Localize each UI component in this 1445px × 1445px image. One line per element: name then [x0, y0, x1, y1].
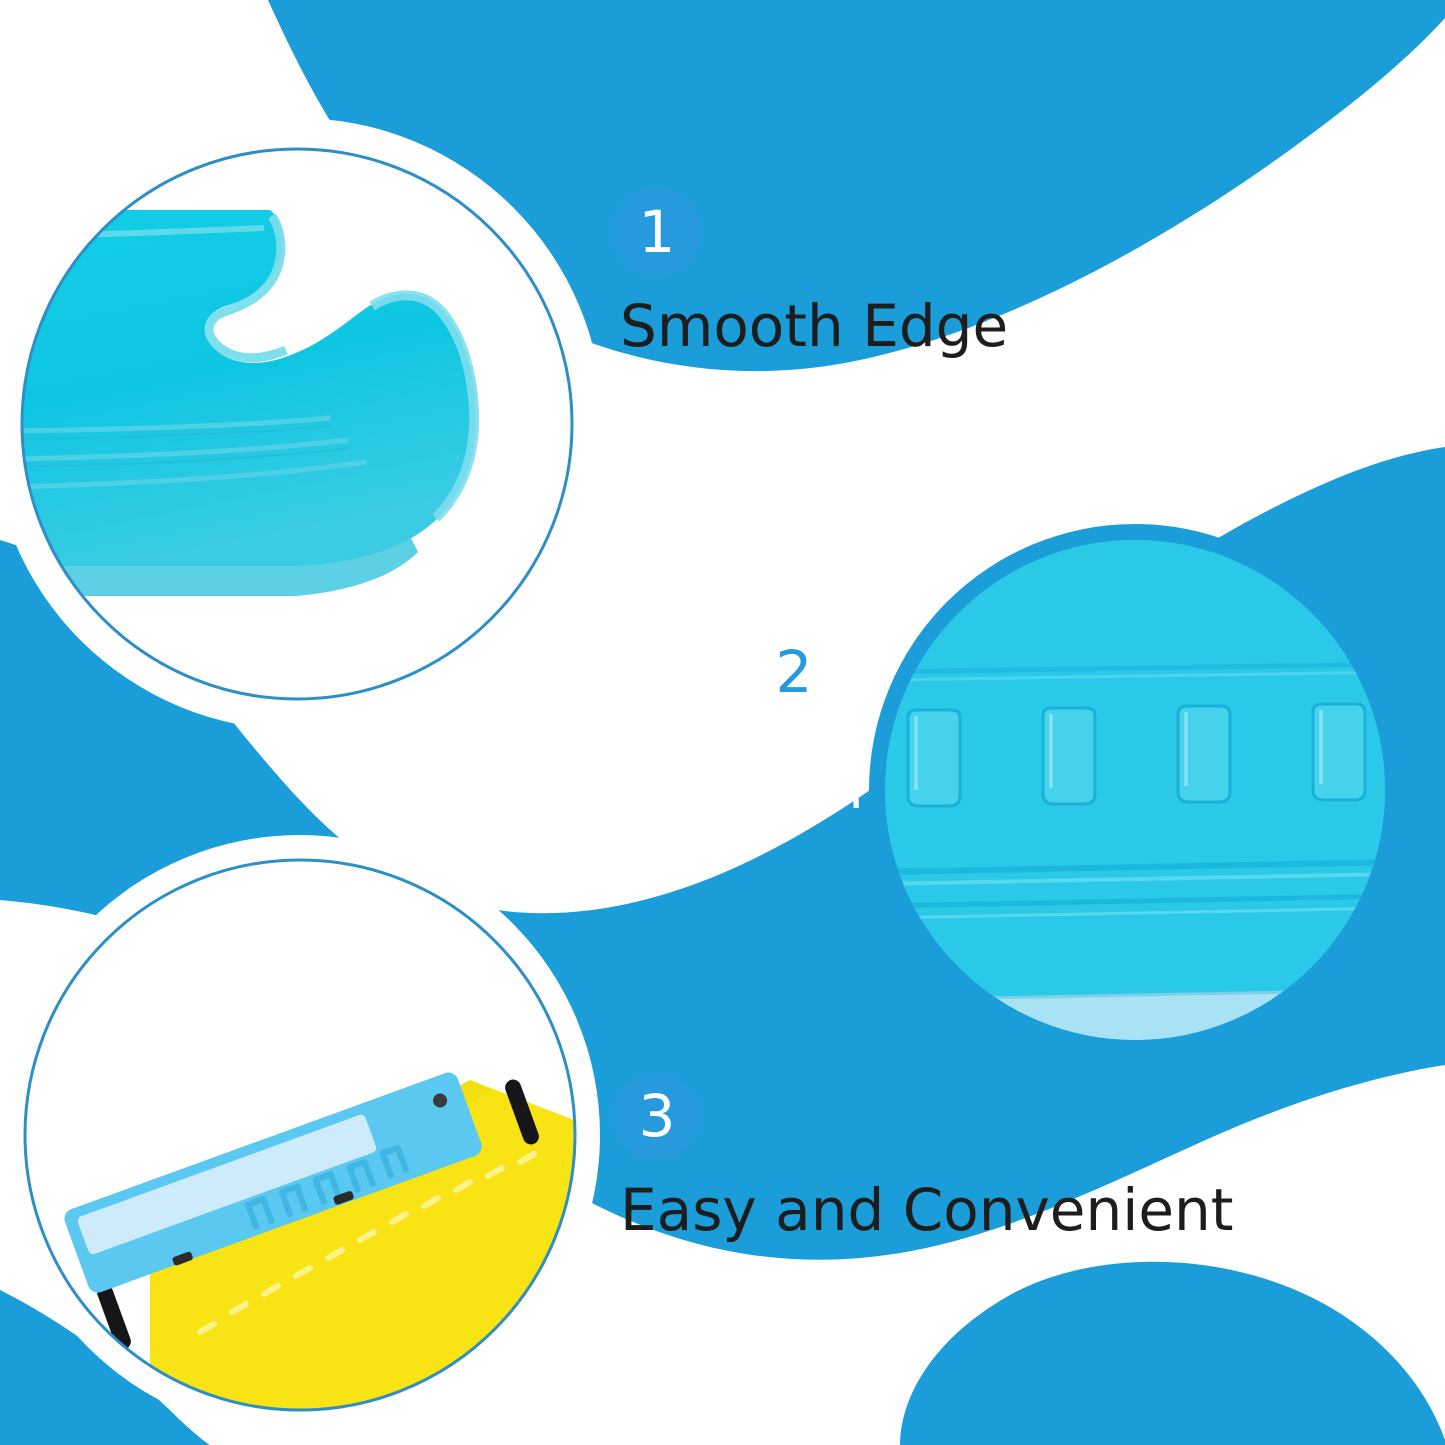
step-badge-2: 2: [750, 628, 838, 716]
step-caption-3: Easy and Convenient: [620, 1180, 1234, 1241]
step-number-3: 3: [639, 1087, 676, 1145]
infographic-canvas: 1 Smooth Edge 2 Special Pit Design 3 Eas…: [0, 0, 1445, 1445]
step-caption-1: Smooth Edge: [620, 296, 1008, 357]
step-number-2: 2: [776, 643, 813, 701]
step-badge-3: 3: [613, 1072, 701, 1160]
step-badge-1: 1: [613, 188, 701, 276]
step-number-1: 1: [639, 203, 676, 261]
step-caption-2: Special Pit Design: [345, 758, 864, 819]
